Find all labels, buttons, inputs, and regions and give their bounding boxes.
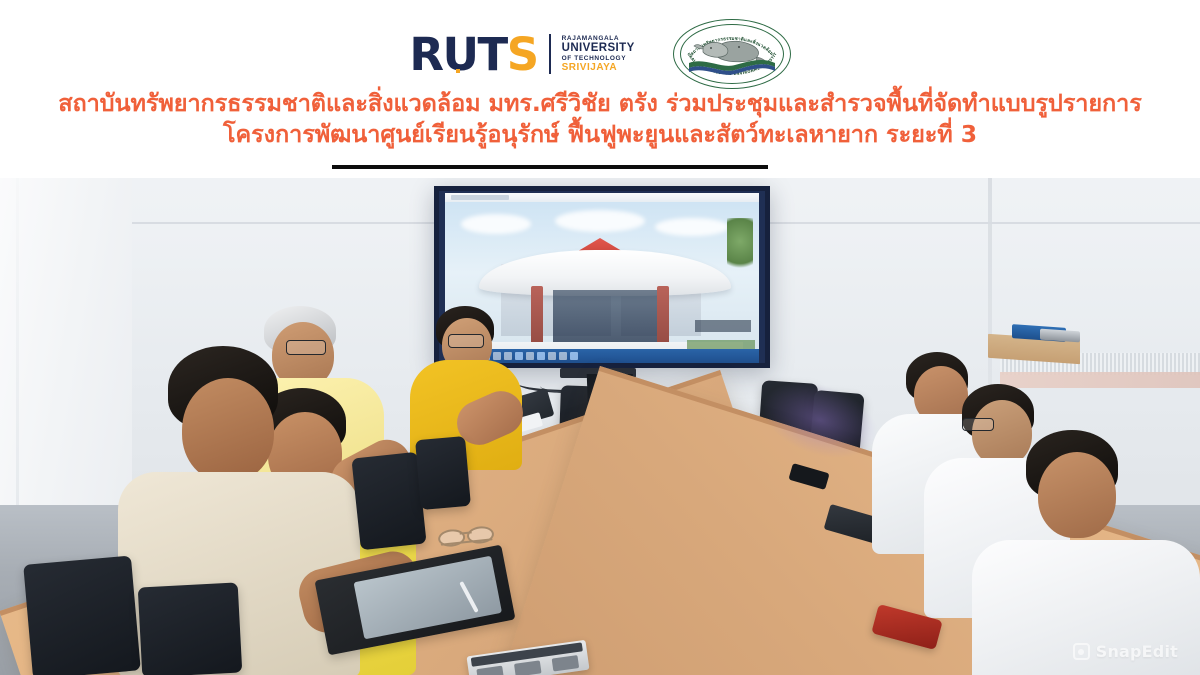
ruts-subtitle-line-2: UNIVERSITY — [562, 42, 635, 55]
taskbar-icon — [548, 352, 556, 360]
taskbar-icon — [504, 352, 512, 360]
cloud — [655, 218, 729, 236]
ruts-logo: RUTS RAJAMANGALA UNIVERSITY OF TECHNOLOG… — [409, 26, 634, 82]
eyeglasses-worn — [448, 334, 484, 348]
ruts-subtitle-line-1: RAJAMANGALA — [562, 35, 635, 42]
rendering-caption-block — [695, 320, 751, 332]
taskbar-icon — [526, 352, 534, 360]
taskbar-icon — [537, 352, 545, 360]
wall-seam — [988, 170, 992, 400]
ruts-wordmark: RUTS — [409, 32, 537, 77]
eyeglasses-worn — [962, 418, 994, 431]
wave-icon — [689, 60, 775, 75]
ruts-logo-divider — [549, 34, 551, 74]
office-chair — [23, 556, 141, 675]
cloud — [555, 210, 645, 232]
head — [182, 378, 274, 482]
title-divider — [332, 165, 768, 169]
office-chair — [351, 452, 426, 550]
eyeglasses-worn — [286, 340, 326, 355]
power-socket — [514, 660, 542, 675]
ruts-wordmark-dot — [456, 69, 460, 73]
pavilion-pillar — [531, 286, 543, 349]
wall-baseboard — [1000, 372, 1200, 388]
screenshot-canvas: RUTS RAJAMANGALA UNIVERSITY OF TECHNOLOG… — [0, 0, 1200, 675]
office-chair — [138, 582, 243, 675]
ruts-subtitle-line-4: SRIVIJAYA — [562, 62, 635, 73]
meeting-photo — [0, 170, 1200, 675]
logo-row: RUTS RAJAMANGALA UNIVERSITY OF TECHNOLOG… — [0, 18, 1200, 90]
ruts-wordmark-primary: RUT — [409, 28, 506, 81]
snapedit-watermark: SnapEdit — [1073, 642, 1178, 661]
rendering-grass — [687, 340, 755, 349]
snapedit-icon — [1073, 643, 1090, 660]
cloud — [461, 214, 531, 234]
head — [1038, 452, 1116, 538]
taskbar-icon — [559, 352, 567, 360]
wall-left-edge — [16, 170, 19, 560]
rendering-tree — [727, 218, 753, 276]
page-title-line-1: สถาบันทรัพยากรธรรมชาติและสิ่งแวดล้อม มทร… — [0, 88, 1200, 119]
page-title: สถาบันทรัพยากรธรรมชาติและสิ่งแวดล้อม มทร… — [0, 88, 1200, 151]
header-banner: RUTS RAJAMANGALA UNIVERSITY OF TECHNOLOG… — [0, 0, 1200, 178]
taskbar-icon — [515, 352, 523, 360]
tv-window-tab — [451, 195, 509, 200]
pavilion-pillar — [657, 286, 669, 349]
power-socket — [552, 655, 580, 671]
page-title-line-2: โครงการพัฒนาศูนย์เรียนรู้อนุรักษ์ ฟื้นฟู… — [0, 119, 1200, 150]
ruts-wordmark-accent: S — [507, 28, 538, 81]
head — [972, 400, 1032, 466]
office-chair — [415, 436, 471, 510]
pavilion-shaded-area — [553, 290, 659, 349]
institute-emblem: สถาบันทรัพยากรธรรมชาติและสิ่งแวดล้อม NAT… — [673, 19, 791, 89]
snapedit-label: SnapEdit — [1096, 642, 1178, 661]
taskbar-icon — [493, 352, 501, 360]
ruts-subtitle-line-3: OF TECHNOLOGY — [562, 55, 635, 62]
taskbar-icon — [570, 352, 578, 360]
power-socket — [476, 666, 504, 675]
ruts-logo-subtitle: RAJAMANGALA UNIVERSITY OF TECHNOLOGY SRI… — [562, 35, 635, 74]
